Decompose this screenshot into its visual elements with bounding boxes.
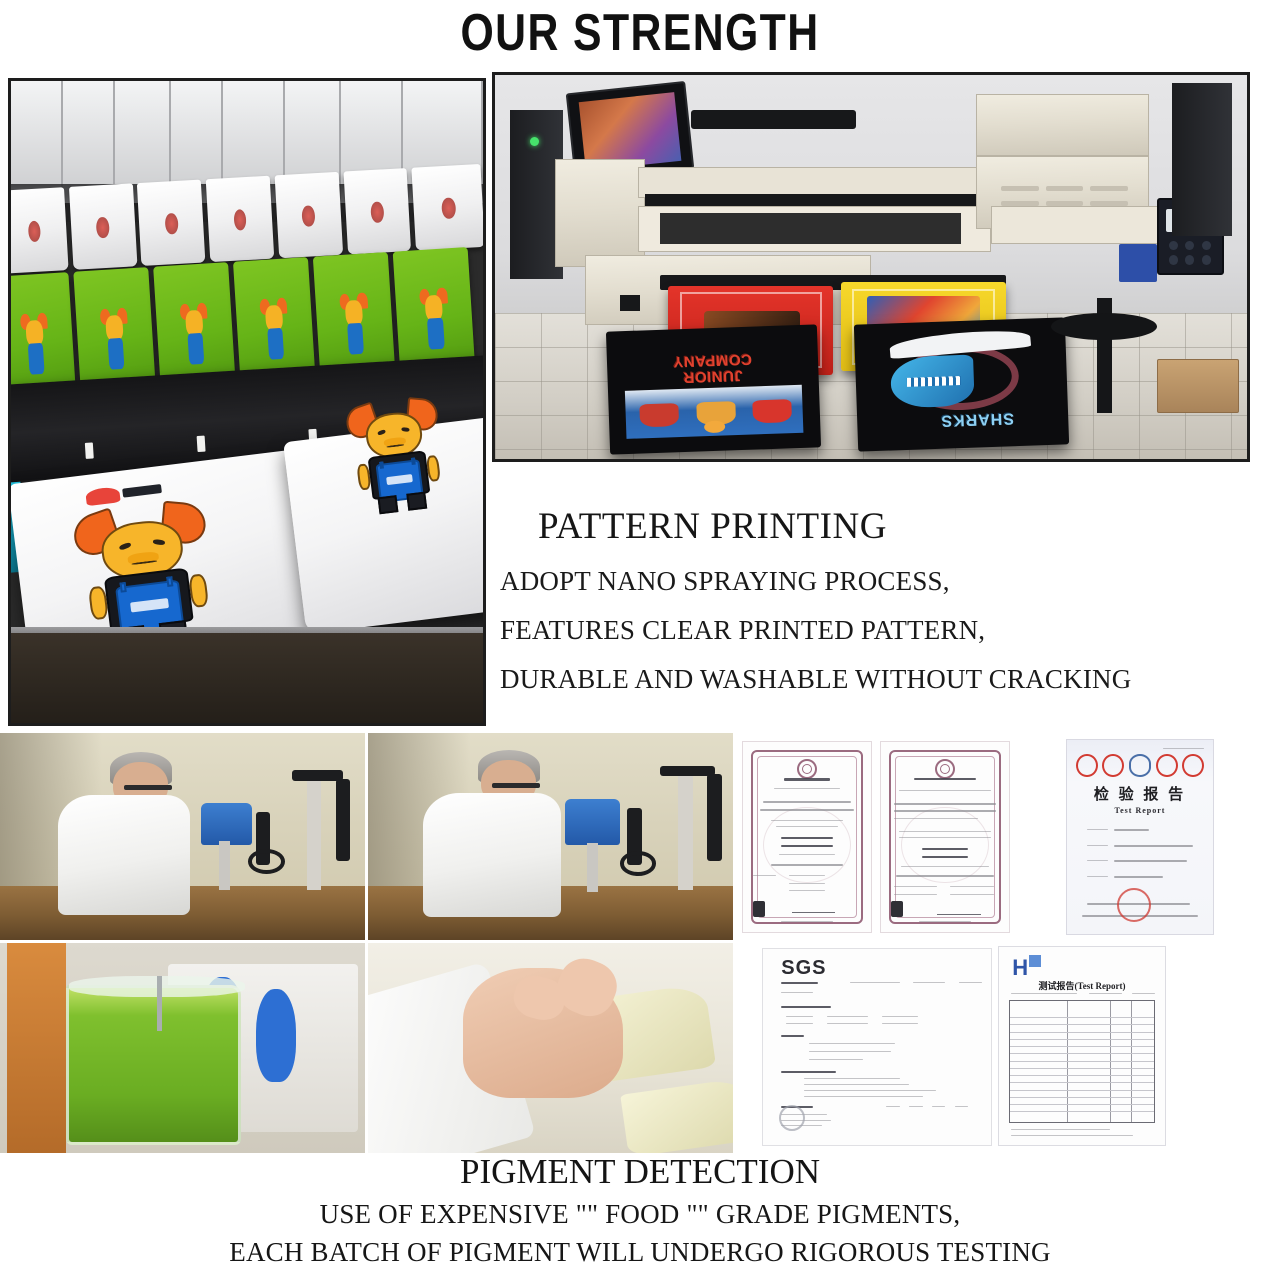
h-report-results-table (1009, 1000, 1155, 1123)
document-iso-certificate-chinese (742, 741, 872, 933)
document-h-test-report: H 测试报告(Test Report) (998, 946, 1166, 1146)
lab-and-documents-band: 检 验 报 告 Test Report SGS (0, 733, 1280, 1153)
bull-mascot-artwork-small (347, 397, 446, 515)
pattern-printing-line-3: DURABLE AND WASHABLE WITHOUT CRACKING (500, 664, 1275, 695)
page-title: OUR STRENGTH (45, 2, 1235, 62)
computer-tower (1172, 83, 1232, 237)
sharks-artwork: SHARKS (879, 328, 1042, 435)
iso-logo-icon (1129, 754, 1151, 777)
test-report-title-en: Test Report (1067, 806, 1213, 815)
cqc-logo-icon (1076, 754, 1098, 777)
document-sgs-test-report: SGS (762, 948, 992, 1146)
beaker-green-liquid (66, 985, 241, 1145)
photo-screen-printing-carousel (8, 78, 486, 726)
photo-chemist-left (0, 733, 365, 940)
red-official-stamp-icon (1117, 888, 1151, 922)
photo-uv-flatbed-printer: JUNIOR COMPANY SHARKS (492, 72, 1250, 462)
printer-head-housing (976, 94, 1149, 155)
certificate-seal-icon (797, 759, 817, 779)
printed-black-tshirt-junior: JUNIOR COMPANY (606, 325, 821, 455)
h-brand-logo: H (1012, 955, 1041, 981)
pigment-detection-text-block: PIGMENT DETECTION USE OF EXPENSIVE "" FO… (0, 1152, 1280, 1268)
pigment-detection-heading: PIGMENT DETECTION (0, 1152, 1280, 1192)
printer-left-column (555, 159, 645, 267)
factory-floor (11, 633, 483, 723)
pattern-printing-line-2: FEATURES CLEAR PRINTED PATTERN, (500, 615, 1275, 646)
sgs-seal-icon (779, 1105, 805, 1131)
pattern-printing-text-block: PATTERN PRINTING ADOPT NANO SPRAYING PRO… (500, 505, 1275, 695)
sharks-text: SHARKS (920, 403, 1033, 429)
stand-base (1051, 313, 1156, 340)
document-iso-certificate-english (880, 741, 1010, 933)
photo-hand-fabric-sample (368, 943, 733, 1153)
cardboard-box (1157, 359, 1240, 413)
printer-right-shelf (991, 206, 1171, 244)
junior-company-artwork: JUNIOR COMPANY (623, 338, 803, 440)
h-report-title: 测试报告(Test Report) (999, 979, 1165, 992)
cqc-logo-icon-2 (1156, 754, 1178, 777)
pattern-printing-line-1: ADOPT NANO SPRAYING PROCESS, (500, 566, 1275, 597)
printed-tshirt-second (283, 415, 486, 634)
poster-root: OUR STRENGTH (0, 0, 1280, 1280)
photo-green-pigment-beaker (0, 943, 365, 1153)
test-report-title-cn: 检 验 报 告 (1067, 783, 1213, 804)
ccc-logo-icon (1102, 754, 1124, 777)
certificate-seal-icon-2 (935, 759, 955, 779)
document-inspection-test-report: 检 验 报 告 Test Report (1066, 739, 1214, 935)
printed-black-tshirt-sharks: SHARKS (854, 317, 1069, 451)
pattern-printing-heading: PATTERN PRINTING (500, 505, 1275, 548)
brand-logo-mark (86, 481, 163, 505)
certification-logos (1076, 754, 1204, 777)
ccc-logo-icon-2 (1182, 754, 1204, 777)
sgs-brand-logo: SGS (781, 957, 826, 980)
pigment-detection-line-1: USE OF EXPENSIVE "" FOOD "" GRADE PIGMEN… (0, 1199, 1280, 1230)
photo-chemist-right (368, 733, 733, 940)
pigment-detection-line-2: EACH BATCH OF PIGMENT WILL UNDERGO RIGOR… (0, 1237, 1280, 1268)
